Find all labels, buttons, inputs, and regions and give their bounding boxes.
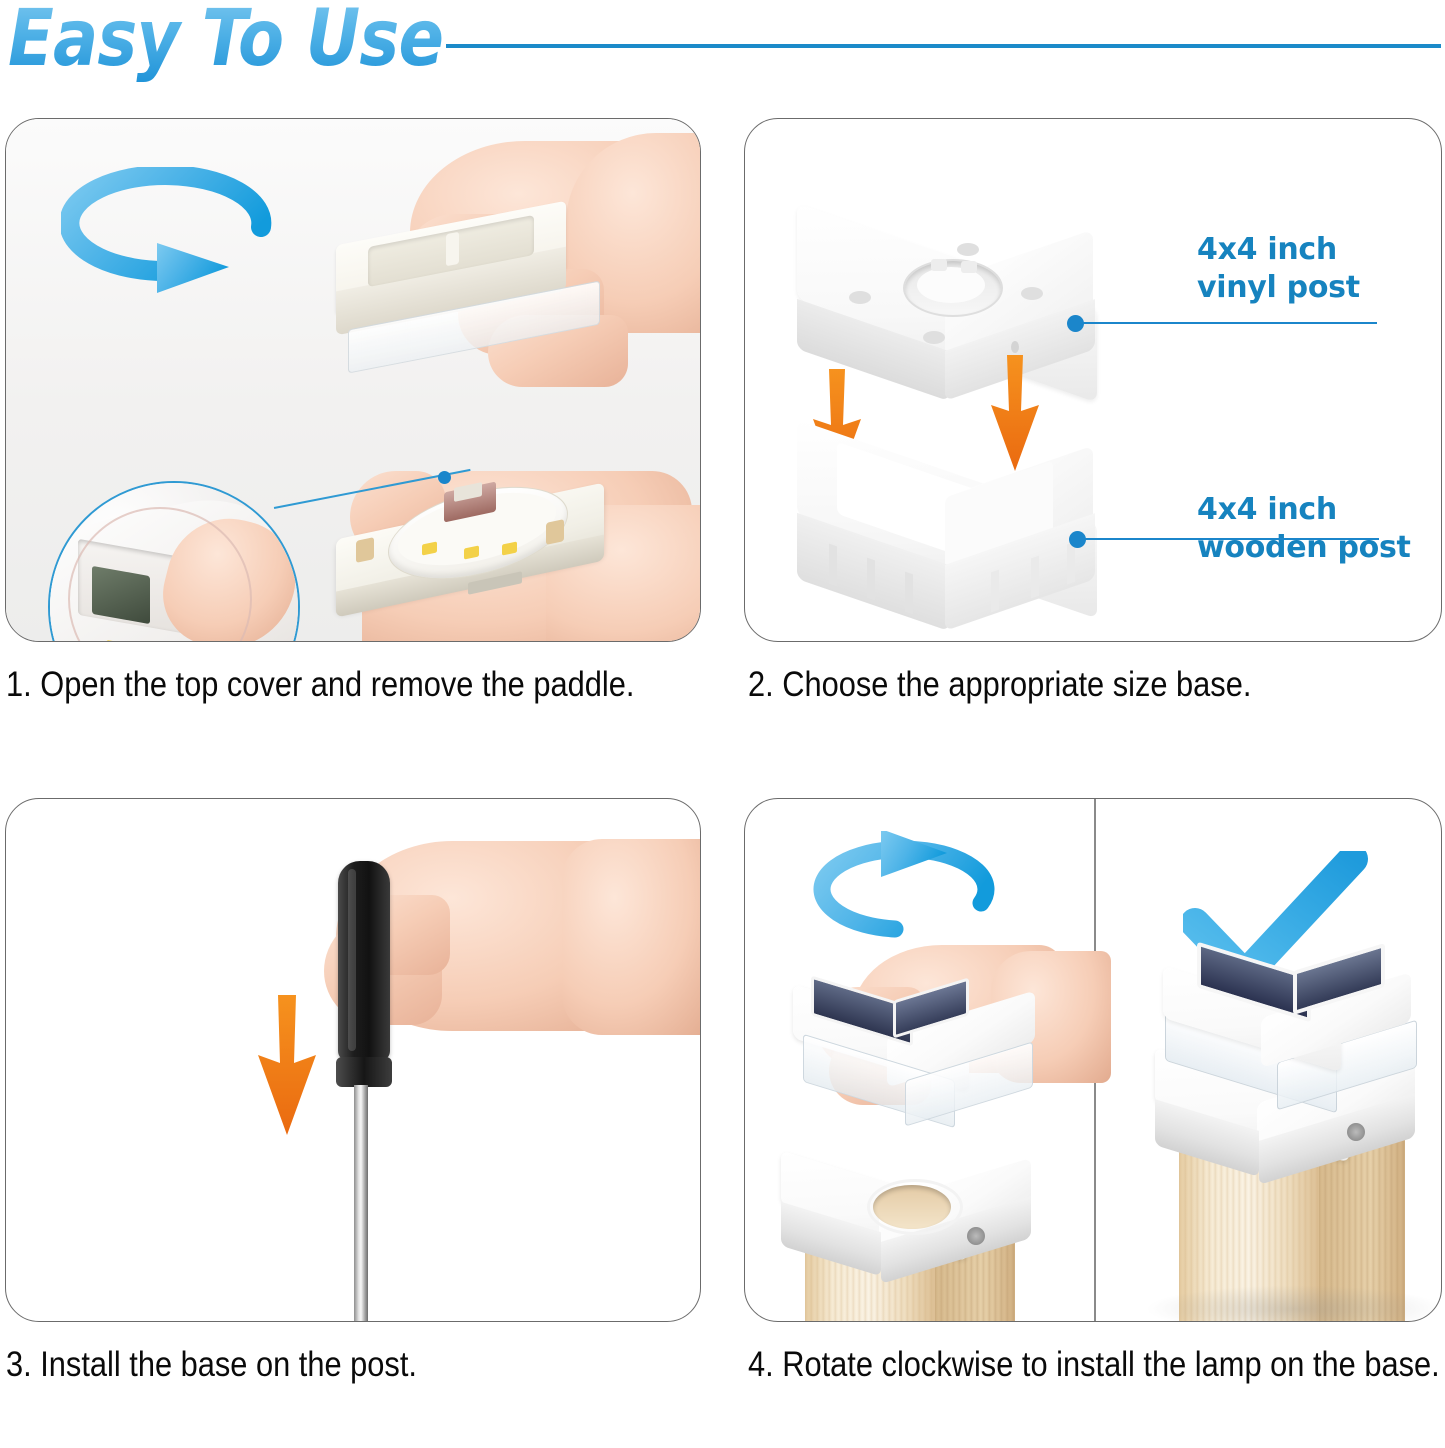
collar-notch: [961, 261, 977, 273]
collar-rib: [829, 544, 837, 587]
orange-down-arrow: [252, 995, 322, 1135]
step-3-panel: [5, 798, 701, 1322]
handle-ferrule: [336, 1057, 392, 1087]
step-3-caption: 3. Install the base on the post.: [6, 1337, 701, 1392]
header: Easy To Use: [0, 0, 1445, 104]
orange-down-arrow: [985, 355, 1045, 471]
step-4-caption: 4. Rotate clockwise to install the lamp …: [748, 1337, 1443, 1392]
screw-hole: [923, 331, 945, 344]
collar-rib: [1031, 556, 1039, 599]
step-2-caption: 2. Choose the appropriate size base.: [748, 657, 1443, 712]
base-center-hole-rim: [867, 1179, 963, 1235]
step-2-scene: 4x4 inch vinyl post: [745, 119, 1441, 641]
collar-notch: [931, 259, 947, 271]
step-1-scene: [6, 119, 700, 641]
screwdriver-shaft: [354, 1085, 368, 1322]
base-tab: [546, 519, 564, 545]
step-4-panel: [744, 798, 1442, 1322]
handle-highlight: [348, 869, 356, 1051]
collar-rib: [991, 570, 999, 613]
title-underline-rule: [446, 44, 1441, 48]
side-screw: [1347, 1123, 1365, 1141]
step-1-panel: [5, 118, 701, 642]
step-4-scene: [745, 799, 1441, 1321]
wooden-post-label: 4x4 inch wooden post: [1197, 491, 1411, 567]
collar-rib: [1067, 542, 1075, 585]
rotate-clockwise-arrow: [61, 167, 296, 312]
step-3-scene: [6, 799, 700, 1321]
base-cap-top-left: [206, 1319, 426, 1322]
screwdriver-handle: [338, 861, 390, 1061]
side-vent-hole: [1011, 341, 1019, 353]
page-title: Easy To Use: [8, 0, 443, 84]
screw-hole: [849, 291, 871, 304]
step-1-caption: 1. Open the top cover and remove the pad…: [6, 657, 701, 712]
post-shadow: [1145, 1285, 1442, 1322]
screw-hole: [957, 243, 979, 256]
collar-rib: [867, 558, 875, 601]
step-2-panel: 4x4 inch vinyl post: [744, 118, 1442, 642]
magnifier-leader-dot: [438, 471, 451, 484]
base-tab: [356, 537, 374, 563]
screw-hole: [1021, 287, 1043, 300]
vinyl-post-leader-line: [1081, 322, 1377, 324]
collar-rib: [905, 572, 913, 615]
forearm: [562, 839, 701, 1035]
vinyl-post-label: 4x4 inch vinyl post: [1197, 231, 1360, 307]
rotate-clockwise-arrow: [803, 831, 1013, 951]
side-screw: [967, 1227, 985, 1245]
magnifier-circle: [48, 481, 300, 642]
wooden-post-leader-line: [1083, 538, 1379, 540]
lamp-cover-rib: [446, 232, 459, 267]
